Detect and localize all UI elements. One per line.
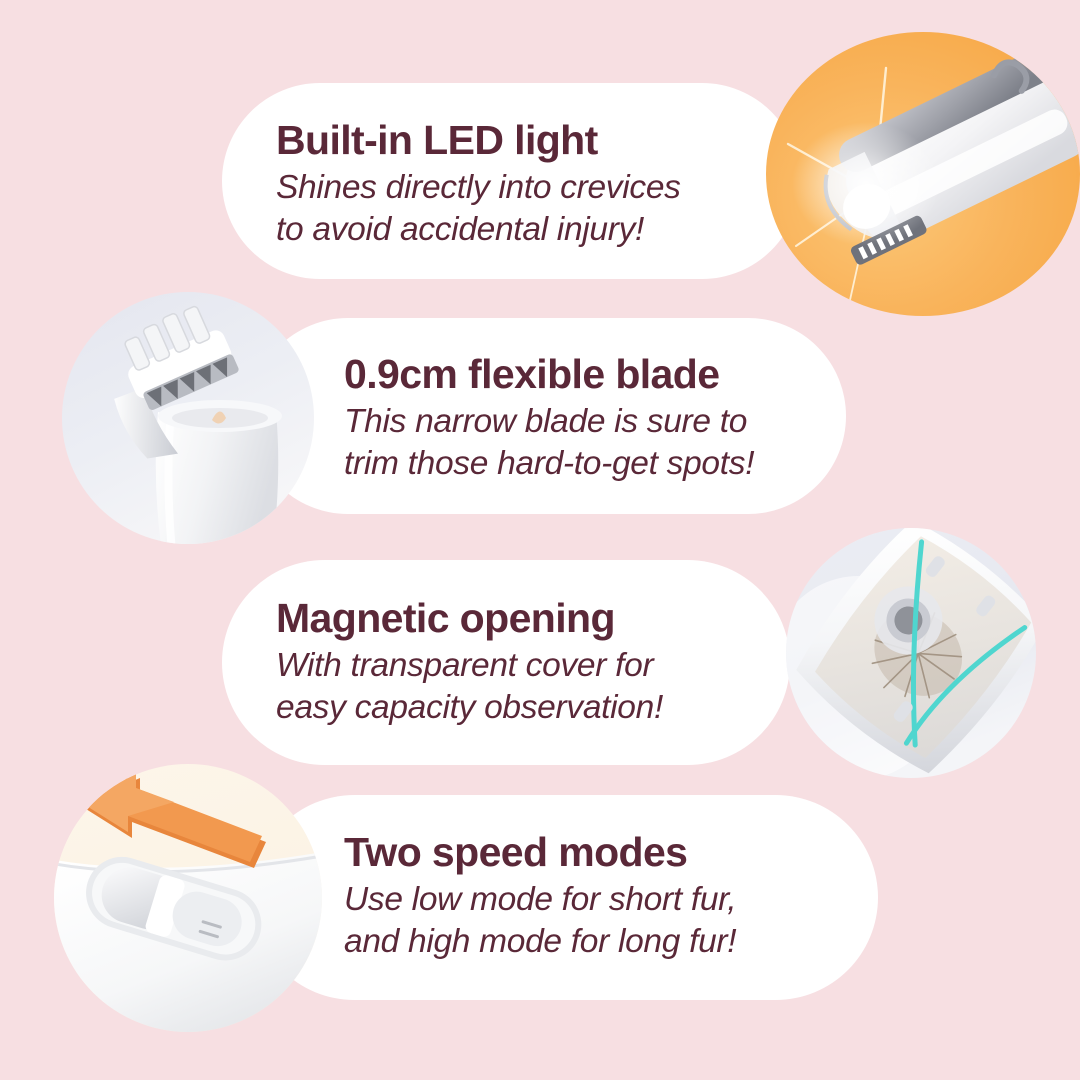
feature-title: Magnetic opening xyxy=(276,596,663,642)
feature-title: Built-in LED light xyxy=(276,118,681,164)
feature-text-led-light: Built-in LED light Shines directly into … xyxy=(276,118,681,251)
feature-title: Two speed modes xyxy=(344,830,736,876)
feature-title: 0.9cm flexible blade xyxy=(344,352,754,398)
feature-subtitle-line1: Use low mode for short fur, xyxy=(344,879,736,921)
feature-subtitle-line2: easy capacity observation! xyxy=(276,687,663,729)
magnetic-opening-photo xyxy=(786,528,1036,778)
flexible-blade-photo xyxy=(62,292,314,544)
infographic-canvas: Built-in LED light Shines directly into … xyxy=(0,0,1080,1080)
two-speed-modes-photo xyxy=(54,764,322,1032)
feature-subtitle-line1: Shines directly into crevices xyxy=(276,167,681,209)
feature-subtitle-line1: This narrow blade is sure to xyxy=(344,401,754,443)
feature-subtitle-line2: to avoid accidental injury! xyxy=(276,209,681,251)
led-light-photo xyxy=(766,32,1080,316)
feature-subtitle-line2: trim those hard-to-get spots! xyxy=(344,443,754,485)
feature-text-flexible-blade: 0.9cm flexible blade This narrow blade i… xyxy=(344,352,754,485)
feature-text-two-speed-modes: Two speed modes Use low mode for short f… xyxy=(344,830,736,963)
feature-text-magnetic-opening: Magnetic opening With transparent cover … xyxy=(276,596,663,729)
feature-subtitle-line2: and high mode for long fur! xyxy=(344,921,736,963)
feature-subtitle-line1: With transparent cover for xyxy=(276,645,663,687)
